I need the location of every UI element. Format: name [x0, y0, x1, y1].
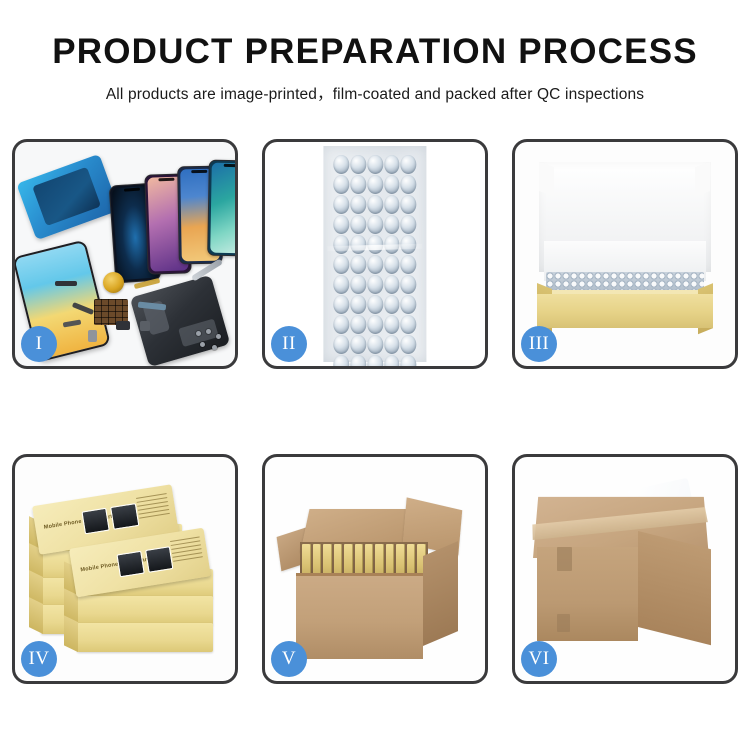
carton-seam-lower	[557, 614, 570, 632]
box-rim	[537, 290, 713, 294]
bubble-wrap-pouch-image	[323, 146, 426, 361]
screws-group	[196, 329, 226, 353]
step-panel-6: VI	[512, 454, 738, 684]
small-component-part	[55, 281, 77, 286]
step-badge-4: IV	[21, 641, 57, 677]
page-title: PRODUCT PREPARATION PROCESS	[0, 34, 750, 71]
header: PRODUCT PREPARATION PROCESS All products…	[0, 0, 750, 104]
retail-box-stack-item	[77, 596, 213, 625]
carton-front-face	[537, 547, 638, 641]
step-panel-2: II	[262, 139, 488, 369]
copper-coil-part	[103, 272, 124, 293]
step-panel-4: Mobile Phone Spare Parts Mobile Phone Sp…	[12, 454, 238, 684]
phone-image-4	[207, 160, 235, 257]
blue-screen-assembly-image	[16, 153, 119, 240]
carton-side-face	[423, 541, 458, 646]
step-panel-1: I	[12, 139, 238, 369]
retail-box-stack-item	[77, 623, 213, 652]
step-panel-3: III	[512, 139, 738, 369]
small-component-part	[140, 321, 150, 331]
box-spec-lines	[136, 493, 172, 530]
carton-right-face	[638, 531, 711, 645]
small-component-part	[116, 321, 130, 330]
kraft-box-front	[537, 294, 713, 328]
step-badge-3: III	[521, 326, 557, 362]
step-badge-5: V	[271, 641, 307, 677]
step-badge-6: VI	[521, 641, 557, 677]
steps-grid: I	[12, 139, 738, 684]
page-subtitle: All products are image-printed，film-coat…	[0, 82, 750, 104]
carton-seam-upper	[557, 547, 572, 572]
carton-front-face	[296, 576, 424, 659]
step-badge-1: I	[21, 326, 57, 362]
small-component-part	[88, 330, 97, 342]
step-panel-5: V	[262, 454, 488, 684]
step-badge-2: II	[271, 326, 307, 362]
product-preparation-infographic: PRODUCT PREPARATION PROCESS All products…	[0, 0, 750, 750]
box-spec-lines	[170, 536, 205, 573]
bubble-grid	[334, 155, 417, 353]
